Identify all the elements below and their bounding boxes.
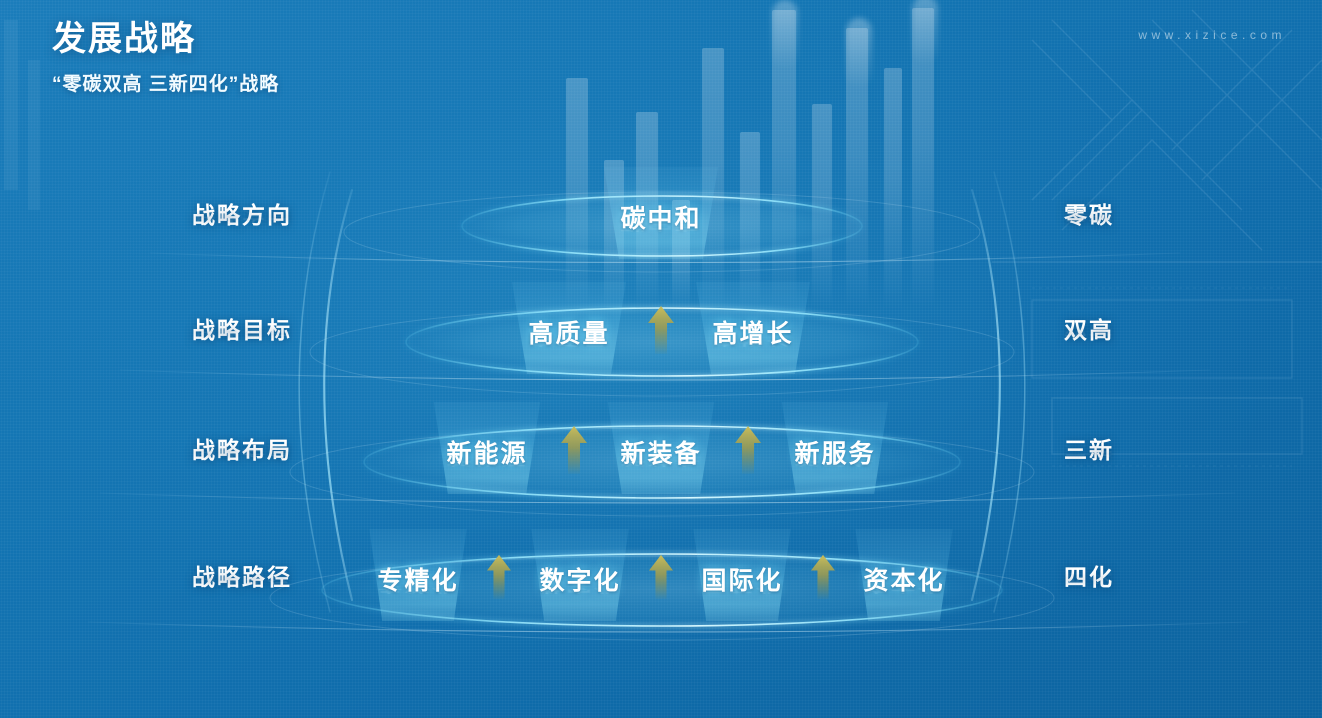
- row-4-left-label-reflection: 战略路径: [192, 569, 292, 588]
- row-1-left-label-reflection: 战略方向: [192, 207, 292, 226]
- node-specialization[interactable]: 专精化 专精化: [354, 529, 482, 621]
- node-internationalization[interactable]: 国际化 国际化: [678, 529, 806, 621]
- row-3-left-label-reflection: 战略布局: [192, 442, 292, 461]
- strategy-diagram: 战略方向 战略方向 零碳 零碳 碳中和 碳中和 战略目标 战略目标: [0, 0, 1322, 718]
- arrow-up-icon: [806, 529, 840, 621]
- slide-canvas: 发展战略 “零碳双高 三新四化”战略 www.xizice.com: [0, 0, 1322, 718]
- arrow-up-icon: [482, 529, 516, 621]
- row-4-right-label: 四化 四化: [1064, 558, 1114, 592]
- node-label: 碳中和: [620, 199, 701, 235]
- arrow-up-icon: [731, 402, 765, 494]
- node-label: 国际化: [701, 561, 782, 597]
- row-3-right-label-reflection: 三新: [1064, 442, 1114, 461]
- row-2-left-label: 战略目标 战略目标: [192, 311, 292, 345]
- row-2-left-label-reflection: 战略目标: [192, 322, 292, 341]
- node-label: 新服务: [794, 434, 875, 470]
- node-label: 资本化: [863, 561, 944, 597]
- row-3-left-label: 战略布局 战略布局: [192, 431, 292, 465]
- row-3-nodes: 新能源 新能源 新装备 新装备: [417, 402, 905, 494]
- row-1-right-label-reflection: 零碳: [1064, 207, 1114, 226]
- node-new-equipment[interactable]: 新装备 新装备: [591, 402, 731, 494]
- node-capitalization[interactable]: 资本化 资本化: [840, 529, 968, 621]
- node-digitalization[interactable]: 数字化 数字化: [516, 529, 644, 621]
- node-label: 高质量: [528, 314, 609, 350]
- node-label: 新装备: [620, 434, 701, 470]
- node-high-quality[interactable]: 高质量 高质量: [494, 282, 644, 374]
- row-3-right-label: 三新 三新: [1064, 431, 1114, 465]
- arrow-up-icon: [644, 529, 678, 621]
- node-label: 专精化: [377, 561, 458, 597]
- row-2-nodes: 高质量 高质量: [494, 282, 828, 374]
- row-2-right-label: 双高 双高: [1064, 311, 1114, 345]
- node-label: 高增长: [712, 314, 793, 350]
- arrow-up-icon: [644, 282, 678, 374]
- row-2-right-label-reflection: 双高: [1064, 322, 1114, 341]
- node-high-growth[interactable]: 高增长 高增长: [678, 282, 828, 374]
- row-4-right-label-reflection: 四化: [1064, 569, 1114, 588]
- node-label: 新能源: [446, 434, 527, 470]
- row-1-right-label: 零碳 零碳: [1064, 196, 1114, 230]
- row-4-nodes: 专精化 专精化 数字化 数字化: [354, 529, 968, 621]
- row-1-nodes: 碳中和 碳中和: [586, 167, 736, 259]
- arrow-up-icon: [557, 402, 591, 494]
- node-carbon-neutral[interactable]: 碳中和 碳中和: [586, 167, 736, 259]
- node-label: 数字化: [539, 561, 620, 597]
- row-1-left-label: 战略方向 战略方向: [192, 196, 292, 230]
- node-new-service[interactable]: 新服务 新服务: [765, 402, 905, 494]
- node-new-energy[interactable]: 新能源 新能源: [417, 402, 557, 494]
- row-4-left-label: 战略路径 战略路径: [192, 558, 292, 592]
